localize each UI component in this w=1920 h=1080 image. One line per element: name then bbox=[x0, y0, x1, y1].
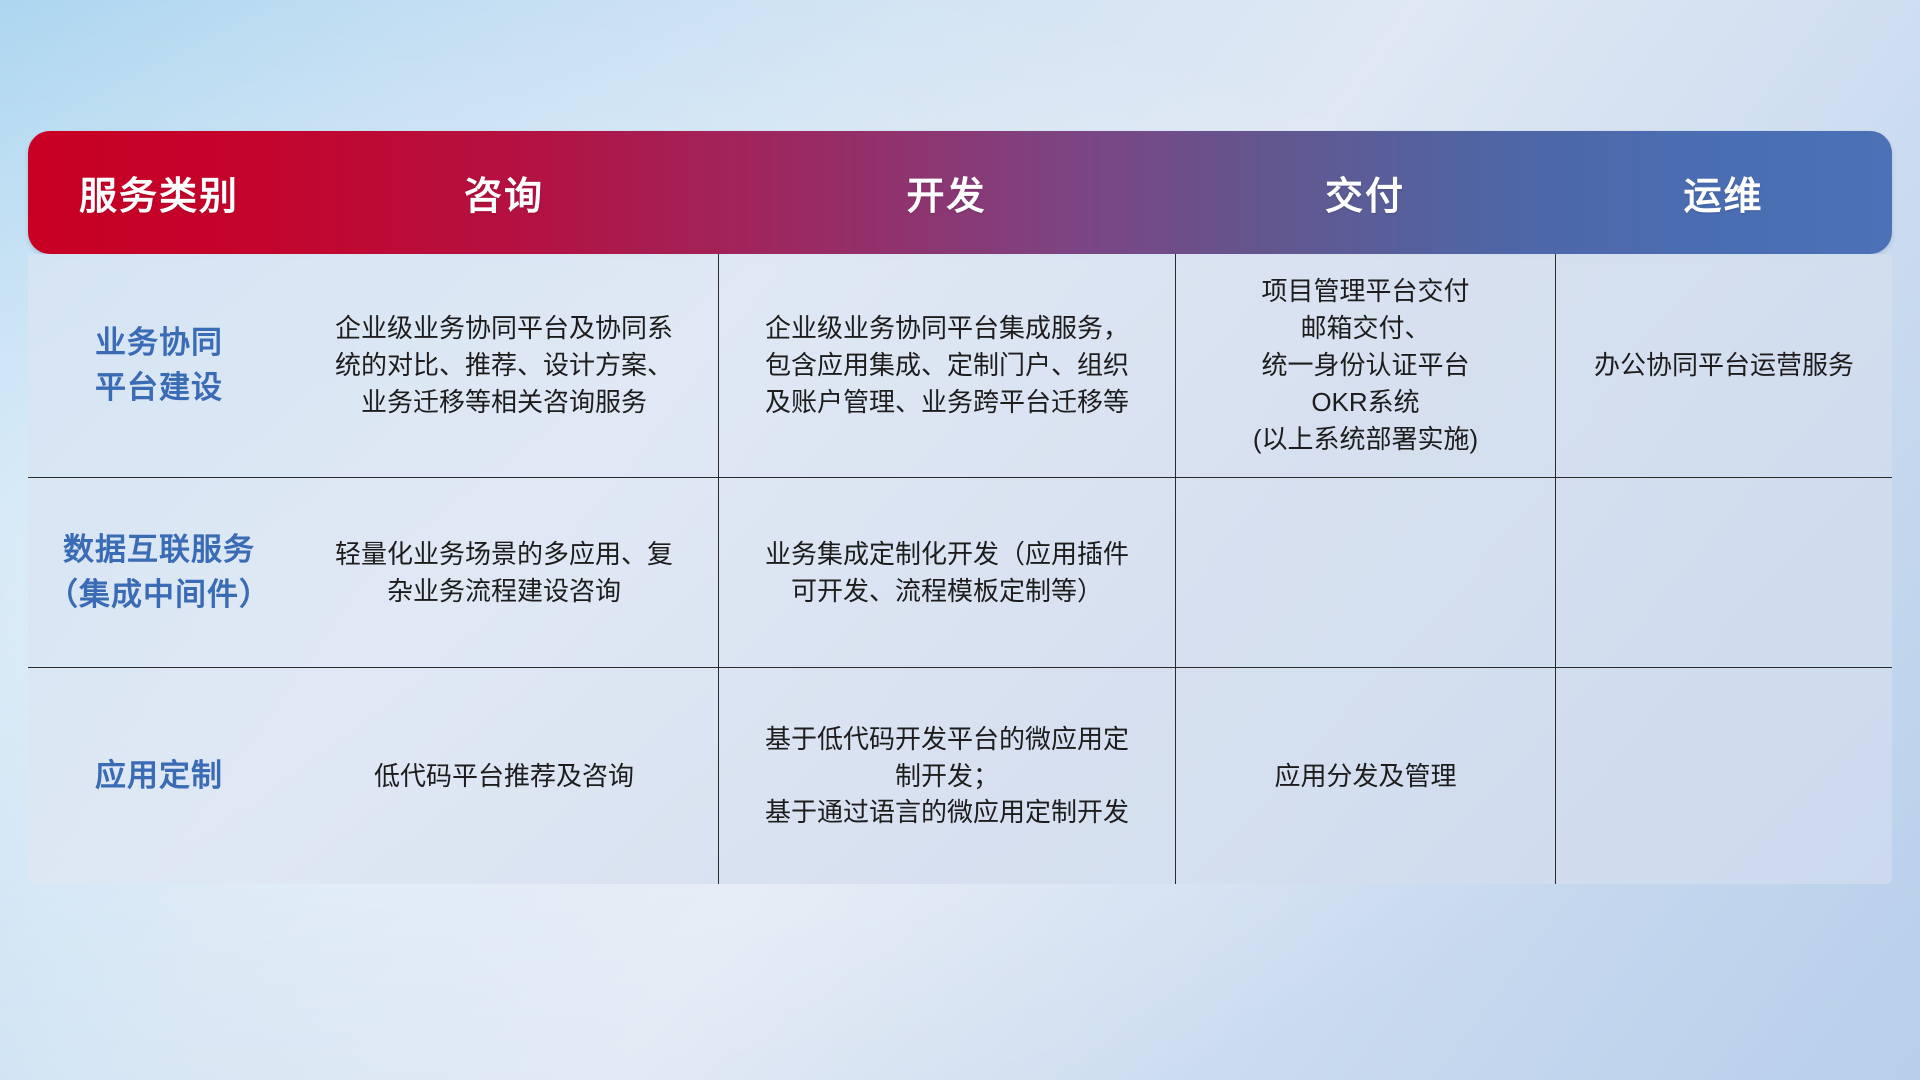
cell-category: 业务协同 平台建设 bbox=[28, 254, 290, 477]
cell-delivery: 应用分发及管理 bbox=[1175, 668, 1555, 884]
cell-category: 数据互联服务 （集成中间件） bbox=[28, 478, 290, 667]
cell-operations bbox=[1555, 478, 1892, 667]
cell-delivery bbox=[1175, 478, 1555, 667]
column-header-operations: 运维 bbox=[1555, 131, 1892, 254]
cell-consulting: 低代码平台推荐及咨询 bbox=[290, 668, 718, 884]
table-row: 应用定制 低代码平台推荐及咨询 基于低代码开发平台的微应用定 制开发； 基于通过… bbox=[28, 667, 1892, 884]
table-row: 业务协同 平台建设 企业级业务协同平台及协同系 统的对比、推荐、设计方案、 业务… bbox=[28, 254, 1892, 477]
slide-canvas: 服务类别 咨询 开发 交付 运维 业务协同 平台建设 企业级业务协同平台及协同系… bbox=[0, 0, 1920, 1080]
column-header-delivery: 交付 bbox=[1175, 131, 1555, 254]
service-matrix-table: 服务类别 咨询 开发 交付 运维 业务协同 平台建设 企业级业务协同平台及协同系… bbox=[28, 131, 1892, 884]
cell-development: 企业级业务协同平台集成服务， 包含应用集成、定制门户、组织 及账户管理、业务跨平… bbox=[718, 254, 1175, 477]
cell-operations: 办公协同平台运营服务 bbox=[1555, 254, 1892, 477]
cell-category: 应用定制 bbox=[28, 668, 290, 884]
cell-consulting: 企业级业务协同平台及协同系 统的对比、推荐、设计方案、 业务迁移等相关咨询服务 bbox=[290, 254, 718, 477]
cell-development: 业务集成定制化开发（应用插件 可开发、流程模板定制等） bbox=[718, 478, 1175, 667]
table-row: 数据互联服务 （集成中间件） 轻量化业务场景的多应用、复 杂业务流程建设咨询 业… bbox=[28, 477, 1892, 667]
column-header-category: 服务类别 bbox=[28, 131, 290, 254]
cell-operations bbox=[1555, 668, 1892, 884]
table-body: 业务协同 平台建设 企业级业务协同平台及协同系 统的对比、推荐、设计方案、 业务… bbox=[28, 254, 1892, 884]
column-header-development: 开发 bbox=[718, 131, 1175, 254]
cell-delivery: 项目管理平台交付 邮箱交付、 统一身份认证平台 OKR系统 (以上系统部署实施) bbox=[1175, 254, 1555, 477]
cell-consulting: 轻量化业务场景的多应用、复 杂业务流程建设咨询 bbox=[290, 478, 718, 667]
column-header-consulting: 咨询 bbox=[290, 131, 718, 254]
cell-development: 基于低代码开发平台的微应用定 制开发； 基于通过语言的微应用定制开发 bbox=[718, 668, 1175, 884]
table-header-row: 服务类别 咨询 开发 交付 运维 bbox=[28, 131, 1892, 254]
